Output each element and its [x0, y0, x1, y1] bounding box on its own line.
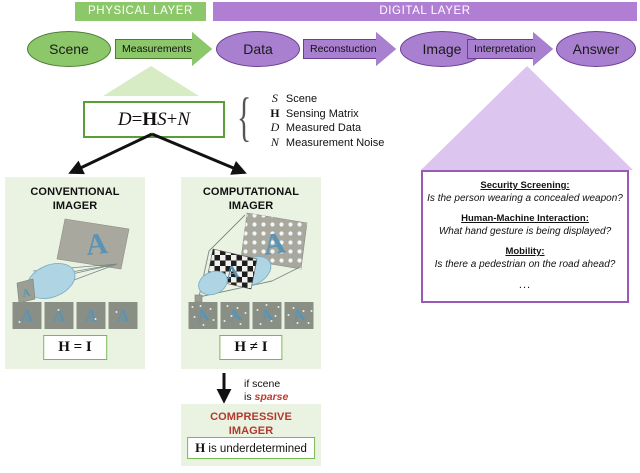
equation-H: H: [142, 109, 157, 131]
panel-applications: Security Screening: Is the person wearin…: [421, 170, 629, 303]
sparse-keyword: sparse: [255, 391, 289, 403]
application-title: Human-Machine Interaction:: [423, 213, 627, 224]
sparse-condition-label: if scene is sparse: [244, 378, 288, 404]
legend-row: H Sensing Matrix: [264, 106, 384, 121]
legend-text: Sensing Matrix: [286, 108, 359, 120]
application-question: Is there a pedestrian on the road ahead?: [423, 259, 627, 270]
application-ellipsis: ...: [423, 279, 627, 291]
compressive-matrix-note: H is underdetermined: [187, 437, 315, 459]
measurement-thumbnail: A: [253, 302, 282, 329]
measurement-thumbnail: A: [109, 302, 138, 329]
pipeline-arrow-reconstruction: Reconstuction: [303, 32, 396, 66]
measurement-thumbnail: A: [221, 302, 250, 329]
sparse-condition-line1: if scene: [244, 378, 288, 391]
computational-measurement-thumbnails: A A A A: [189, 302, 314, 329]
measurement-thumbnail: A: [285, 302, 314, 329]
pipeline-node-scene[interactable]: Scene: [27, 31, 111, 67]
pipeline-node-data[interactable]: Data: [216, 31, 300, 67]
equation-equals: =: [132, 109, 143, 131]
arrow-head: [376, 32, 396, 66]
conventional-matrix-relation: H = I: [43, 335, 107, 360]
legend-row: S Scene: [264, 91, 384, 106]
svg-text:A: A: [84, 227, 109, 262]
arrow-label-interpretation: Interpretation: [467, 43, 536, 55]
pipeline-arrow-interpretation: Interpretation: [467, 32, 553, 66]
conventional-measurement-thumbnails: A A A A: [13, 302, 138, 329]
physical-layer-bar: PHYSICAL LAYER: [75, 2, 206, 21]
measurement-thumbnail: A: [13, 302, 42, 329]
conventional-imager-title: CONVENTIONAL IMAGER: [5, 177, 145, 213]
equation-N: N: [177, 109, 190, 131]
conventional-optics-illustration: A A: [13, 215, 139, 307]
application-item: Human-Machine Interaction: What hand ges…: [423, 213, 627, 237]
equation-plus: +: [167, 109, 178, 131]
computational-optics-illustration: A A: [187, 211, 317, 311]
equation-D: D: [118, 109, 132, 131]
sparse-condition-line2-prefix: is: [244, 391, 255, 403]
measurement-thumbnail: A: [77, 302, 106, 329]
branch-arrow-left: [72, 134, 152, 172]
application-item: Mobility: Is there a pedestrian on the r…: [423, 246, 627, 270]
compressive-imager-title: COMPRESSIVE IMAGER: [181, 404, 321, 438]
measurement-light-cone: [103, 66, 199, 96]
pipeline-node-answer[interactable]: Answer: [556, 31, 636, 67]
application-question: Is the person wearing a concealed weapon…: [423, 193, 627, 204]
branch-arrow-right: [152, 134, 243, 172]
arrow-label-reconstruction: Reconstuction: [303, 43, 377, 55]
panel-compressive-imager: COMPRESSIVE IMAGER H is underdetermined: [181, 404, 321, 466]
equation-S: S: [157, 109, 167, 131]
pipeline-arrow-measurements: Measurements: [115, 32, 212, 66]
arrow-label-measurements: Measurements: [115, 43, 191, 55]
legend-text: Scene: [286, 93, 317, 105]
interpretation-light-cone: [421, 66, 633, 170]
digital-layer-bar: DIGITAL LAYER: [213, 2, 637, 21]
application-title: Mobility:: [423, 246, 627, 257]
panel-conventional-imager: CONVENTIONAL IMAGER A A A A A A: [5, 177, 145, 369]
legend-symbol: H: [264, 106, 286, 121]
computational-imager-title: COMPUTATIONAL IMAGER: [181, 177, 321, 213]
measurement-thumbnail: A: [189, 302, 218, 329]
sparse-condition-arrow: [212, 372, 236, 406]
compressive-matrix-text: is underdetermined: [205, 443, 307, 455]
application-title: Security Screening:: [423, 180, 627, 191]
measurement-thumbnail: A: [45, 302, 74, 329]
computational-matrix-relation: H ≠ I: [219, 335, 282, 360]
diagram-canvas: PHYSICAL LAYER DIGITAL LAYER Scene Data …: [0, 0, 640, 473]
arrow-head: [192, 32, 212, 66]
application-question: What hand gesture is being displayed?: [423, 226, 627, 237]
legend-symbol: S: [264, 91, 286, 106]
application-item: Security Screening: Is the person wearin…: [423, 180, 627, 204]
panel-computational-imager: COMPUTATIONAL IMAGER A: [181, 177, 321, 369]
compressive-matrix-symbol: H: [195, 440, 205, 455]
